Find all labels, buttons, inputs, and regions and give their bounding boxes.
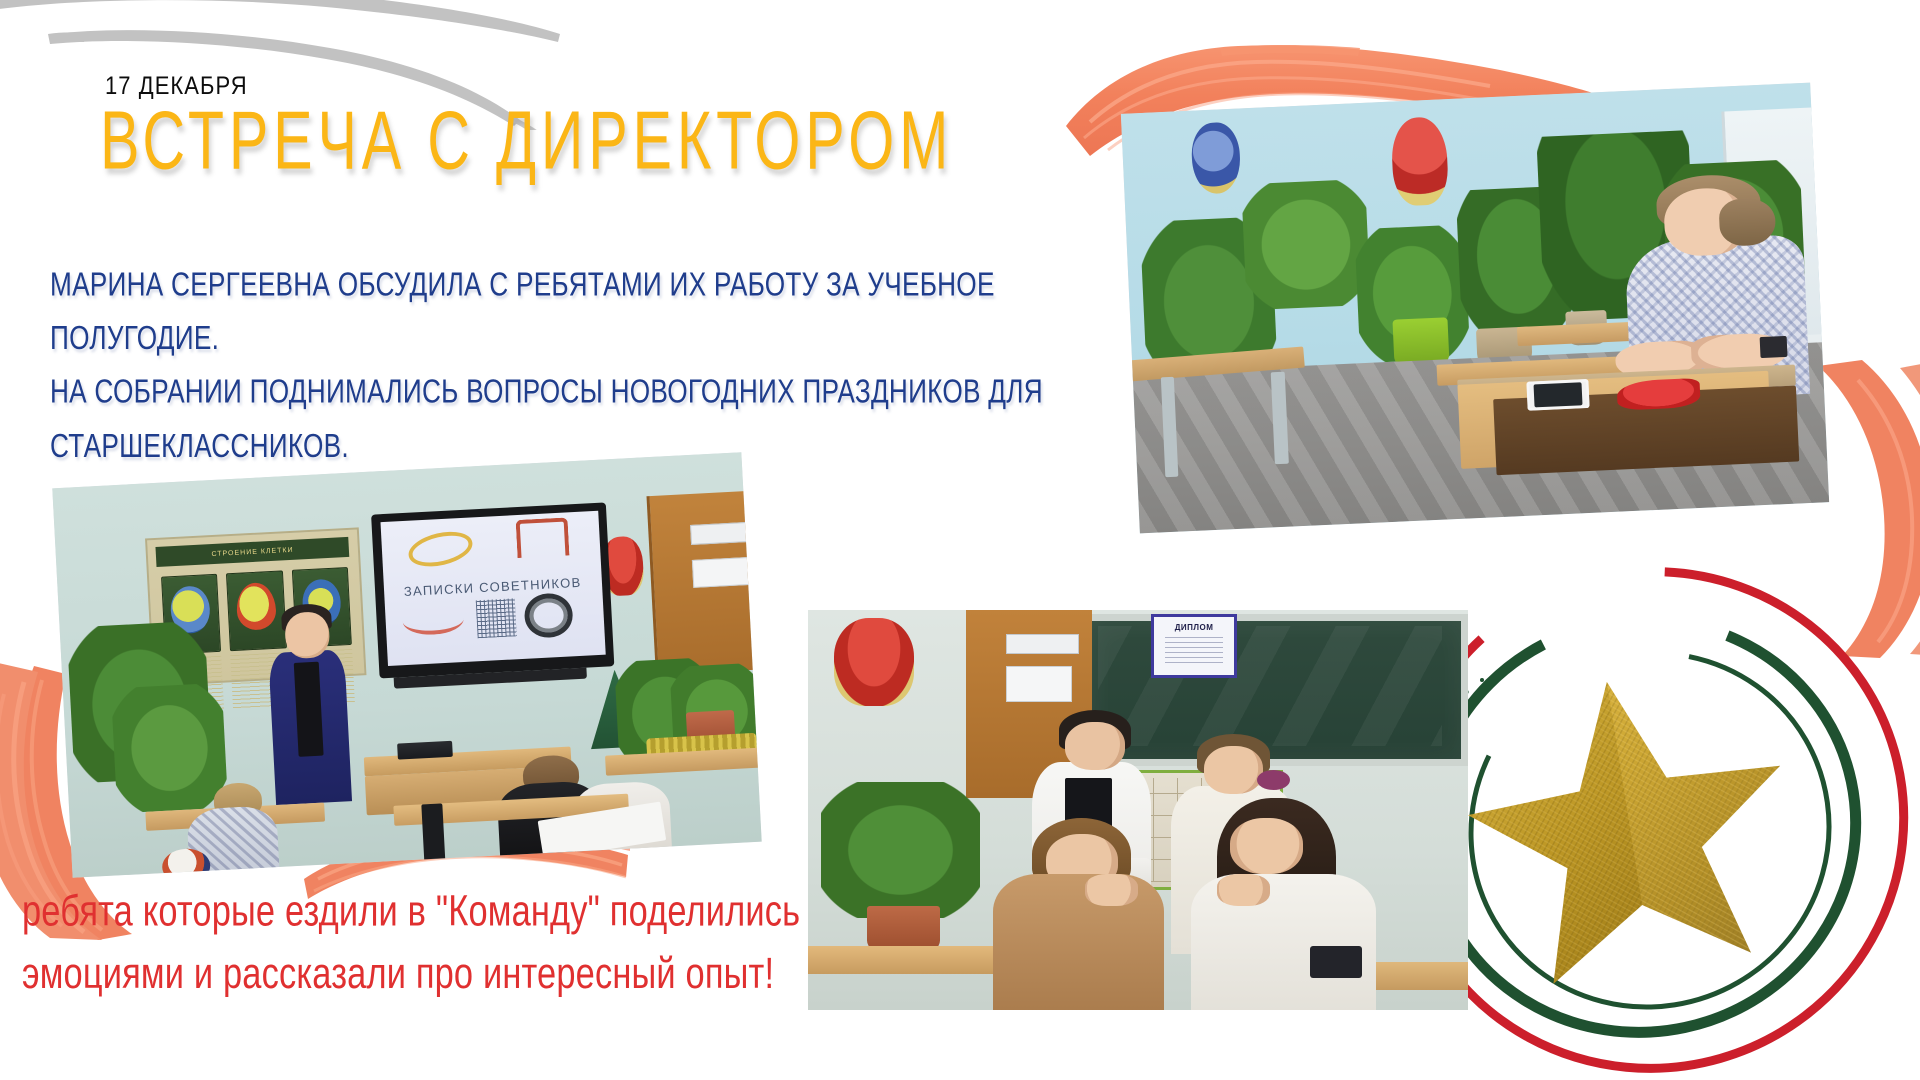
diploma-inner: ДИПЛОМ: [1154, 617, 1234, 675]
page-title: ВСТРЕЧА С ДИРЕКТОРОМ: [100, 98, 953, 183]
slide-canvas: СТРОЕНИЕ КЛЕТКИ ЗАПИСКИ СОВЕТНИКОВ: [0, 0, 1920, 1080]
slide-bracket-doodle: [515, 518, 569, 558]
body-line: СТАРШЕКЛАССНИКОВ.: [50, 419, 903, 473]
slide-ring-doodle: [405, 526, 476, 572]
body-line: МАРИНА СЕРГЕЕВНА ОБСУДИЛА С РЕБЯТАМИ ИХ …: [50, 258, 903, 312]
body-text: МАРИНА СЕРГЕЕВНА ОБСУДИЛА С РЕБЯТАМИ ИХ …: [50, 258, 903, 473]
slide-scribble-doodle: [524, 593, 574, 639]
interactive-panel-screen: ЗАПИСКИ СОВЕТНИКОВ: [380, 510, 605, 666]
student-head: [1230, 818, 1303, 874]
door-sign: [690, 522, 753, 545]
student-hand: [1085, 874, 1138, 906]
diploma-certificate: ДИПЛОМ: [1151, 614, 1237, 678]
hair-scrunchie: [1257, 770, 1290, 790]
new-year-decoration: [1190, 121, 1241, 195]
plant: [821, 782, 979, 918]
door-sign: [1006, 634, 1079, 654]
desk-box: [397, 741, 453, 759]
door-notice: [1006, 666, 1072, 702]
plant: [1241, 178, 1371, 310]
caption-line: эмоциями и рассказали про интересный опы…: [22, 943, 800, 1006]
green-ring-inner-icon: [1406, 588, 1894, 1073]
wristwatch: [1760, 336, 1789, 358]
santa-decoration: [1390, 116, 1449, 207]
plant: [111, 683, 228, 813]
slide-grid-doodle: [476, 599, 517, 639]
photo-presentation: СТРОЕНИЕ КЛЕТКИ ЗАПИСКИ СОВЕТНИКОВ: [52, 452, 761, 878]
student-body: [993, 874, 1165, 1010]
diploma-text-lines: [1165, 637, 1222, 665]
diploma-title: ДИПЛОМ: [1154, 623, 1234, 632]
slide-arrow-doodle: [402, 604, 464, 636]
photo-students: ДИПЛОМ: [808, 610, 1468, 1010]
gold-star-icon: [1451, 657, 1808, 993]
body-line: ПОЛУГОДИЕ.: [50, 312, 903, 366]
red-caption: ребята которые ездили в "Команду" подели…: [22, 880, 800, 1005]
student-head: [1204, 746, 1263, 794]
santa-decoration: [834, 618, 913, 706]
body-line: НА СОБРАНИИ ПОДНИМАЛИСЬ ВОПРОСЫ НОВОГОДН…: [50, 365, 903, 419]
door-notice: [692, 557, 755, 588]
smartphone-screen: [1534, 382, 1583, 407]
student-presenter-shirt: [294, 662, 324, 757]
smartphone: [1310, 946, 1363, 978]
student-head: [1065, 722, 1124, 770]
tripod: [421, 804, 445, 864]
caption-line: ребята которые ездили в "Команду" подели…: [22, 880, 800, 943]
chalkboard-smudges: [1098, 626, 1441, 746]
photo-director: [1121, 83, 1829, 534]
student-hand: [1217, 874, 1270, 906]
